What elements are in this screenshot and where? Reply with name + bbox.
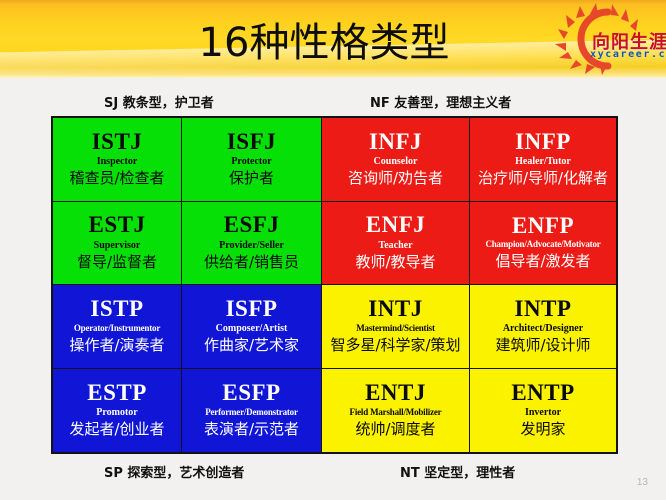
type-code: ISFP: [226, 297, 278, 321]
type-cell-isfp[interactable]: ISFPComposer/Artist作曲家/艺术家: [182, 285, 322, 369]
type-role-cn: 督导/监督者: [77, 254, 157, 271]
type-role-en: Protector: [231, 156, 271, 167]
type-code: INFP: [515, 130, 571, 154]
type-role-cn: 稽查员/检查者: [69, 170, 164, 187]
type-cell-infj[interactable]: INFJCounselor咨询师/劝告者: [322, 118, 470, 202]
type-role-en: Promotor: [96, 407, 137, 418]
type-role-en: Teacher: [378, 240, 412, 251]
type-cell-enfj[interactable]: ENFJTeacher教师/教导者: [322, 202, 470, 286]
slide-number: 13: [637, 477, 648, 488]
type-code: ISFJ: [227, 130, 276, 154]
type-code: ISTJ: [92, 130, 143, 154]
type-code: ESFJ: [224, 213, 280, 237]
type-cell-estj[interactable]: ESTJSupervisor督导/监督者: [53, 202, 182, 286]
type-cell-istp[interactable]: ISTPOperator/Instrumentor操作者/演奏者: [53, 285, 182, 369]
caption-nf: NF 友善型，理想主义者: [370, 92, 511, 111]
type-role-cn: 治疗师/导师/化解者: [478, 170, 608, 187]
type-role-en: Inspector: [97, 156, 138, 167]
type-role-cn: 智多星/科学家/策划: [330, 337, 460, 354]
type-code: INTJ: [368, 297, 422, 321]
type-role-en: Operator/Instrumentor: [74, 324, 160, 334]
type-role-cn: 供给者/销售员: [204, 254, 299, 271]
type-cell-isfj[interactable]: ISFJProtector保护者: [182, 118, 322, 202]
type-role-en: Architect/Designer: [503, 323, 583, 334]
type-role-cn: 发明家: [520, 421, 565, 438]
type-cell-intj[interactable]: INTJMastermind/Scientist智多星/科学家/策划: [322, 285, 470, 369]
type-role-en: Healer/Tutor: [515, 156, 571, 167]
caption-sp: SP 探索型，艺术创造者: [104, 462, 244, 481]
type-cell-esfp[interactable]: ESFPPerformer/Demonstrator表演者/示范者: [182, 369, 322, 453]
type-code: ESTP: [87, 381, 147, 405]
type-code: ENTP: [511, 381, 574, 405]
type-role-cn: 表演者/示范者: [204, 421, 299, 438]
type-cell-estp[interactable]: ESTPPromotor发起者/创业者: [53, 369, 182, 453]
type-role-en: Field Marshall/Mobilizer: [350, 408, 442, 418]
type-role-en: Invertor: [525, 407, 561, 418]
type-cell-entp[interactable]: ENTPInvertor发明家: [470, 369, 616, 453]
type-role-cn: 发起者/创业者: [69, 421, 164, 438]
type-code: ENTJ: [365, 381, 426, 405]
type-role-en: Mastermind/Scientist: [356, 324, 435, 334]
type-role-cn: 作曲家/艺术家: [204, 337, 299, 354]
type-role-cn: 咨询师/劝告者: [348, 170, 443, 187]
type-code: INFJ: [369, 130, 422, 154]
type-role-en: Champion/Advocate/Motivator: [485, 240, 600, 250]
type-code: ENFP: [512, 214, 574, 238]
type-cell-intp[interactable]: INTPArchitect/Designer建筑师/设计师: [470, 285, 616, 369]
header-banner: 16种性格类型 向阳生涯 xycareer.com: [0, 0, 666, 78]
type-role-en: Supervisor: [94, 240, 141, 251]
type-role-en: Counselor: [374, 156, 418, 167]
type-role-cn: 统帅/调度者: [355, 421, 435, 438]
type-code: ESTJ: [89, 213, 146, 237]
type-role-cn: 教师/教导者: [355, 254, 435, 271]
type-role-en: Provider/Seller: [219, 240, 284, 251]
type-cell-enfp[interactable]: ENFPChampion/Advocate/Motivator倡导者/激发者: [470, 202, 616, 286]
caption-nt: NT 坚定型，理性者: [400, 462, 515, 481]
type-cell-esfj[interactable]: ESFJProvider/Seller供给者/销售员: [182, 202, 322, 286]
type-code: ESFP: [222, 381, 280, 405]
type-role-cn: 倡导者/激发者: [495, 253, 590, 270]
type-cell-istj[interactable]: ISTJInspector稽查员/检查者: [53, 118, 182, 202]
personality-type-grid: ISTJInspector稽查员/检查者ISFJProtector保护者INFJ…: [51, 116, 618, 454]
type-role-en: Composer/Artist: [216, 323, 288, 334]
type-code: ENFJ: [366, 213, 426, 237]
type-role-en: Performer/Demonstrator: [205, 408, 298, 418]
type-code: INTP: [515, 297, 572, 321]
brand-url: xycareer.com: [590, 49, 666, 60]
type-code: ISTP: [90, 297, 143, 321]
type-role-cn: 保护者: [229, 170, 274, 187]
type-role-cn: 建筑师/设计师: [495, 337, 590, 354]
caption-sj: SJ 教条型，护卫者: [104, 92, 214, 111]
type-role-cn: 操作者/演奏者: [69, 337, 164, 354]
brand-logo[interactable]: 向阳生涯 xycareer.com: [546, 2, 664, 76]
type-cell-entj[interactable]: ENTJField Marshall/Mobilizer统帅/调度者: [322, 369, 470, 453]
type-cell-infp[interactable]: INFPHealer/Tutor治疗师/导师/化解者: [470, 118, 616, 202]
